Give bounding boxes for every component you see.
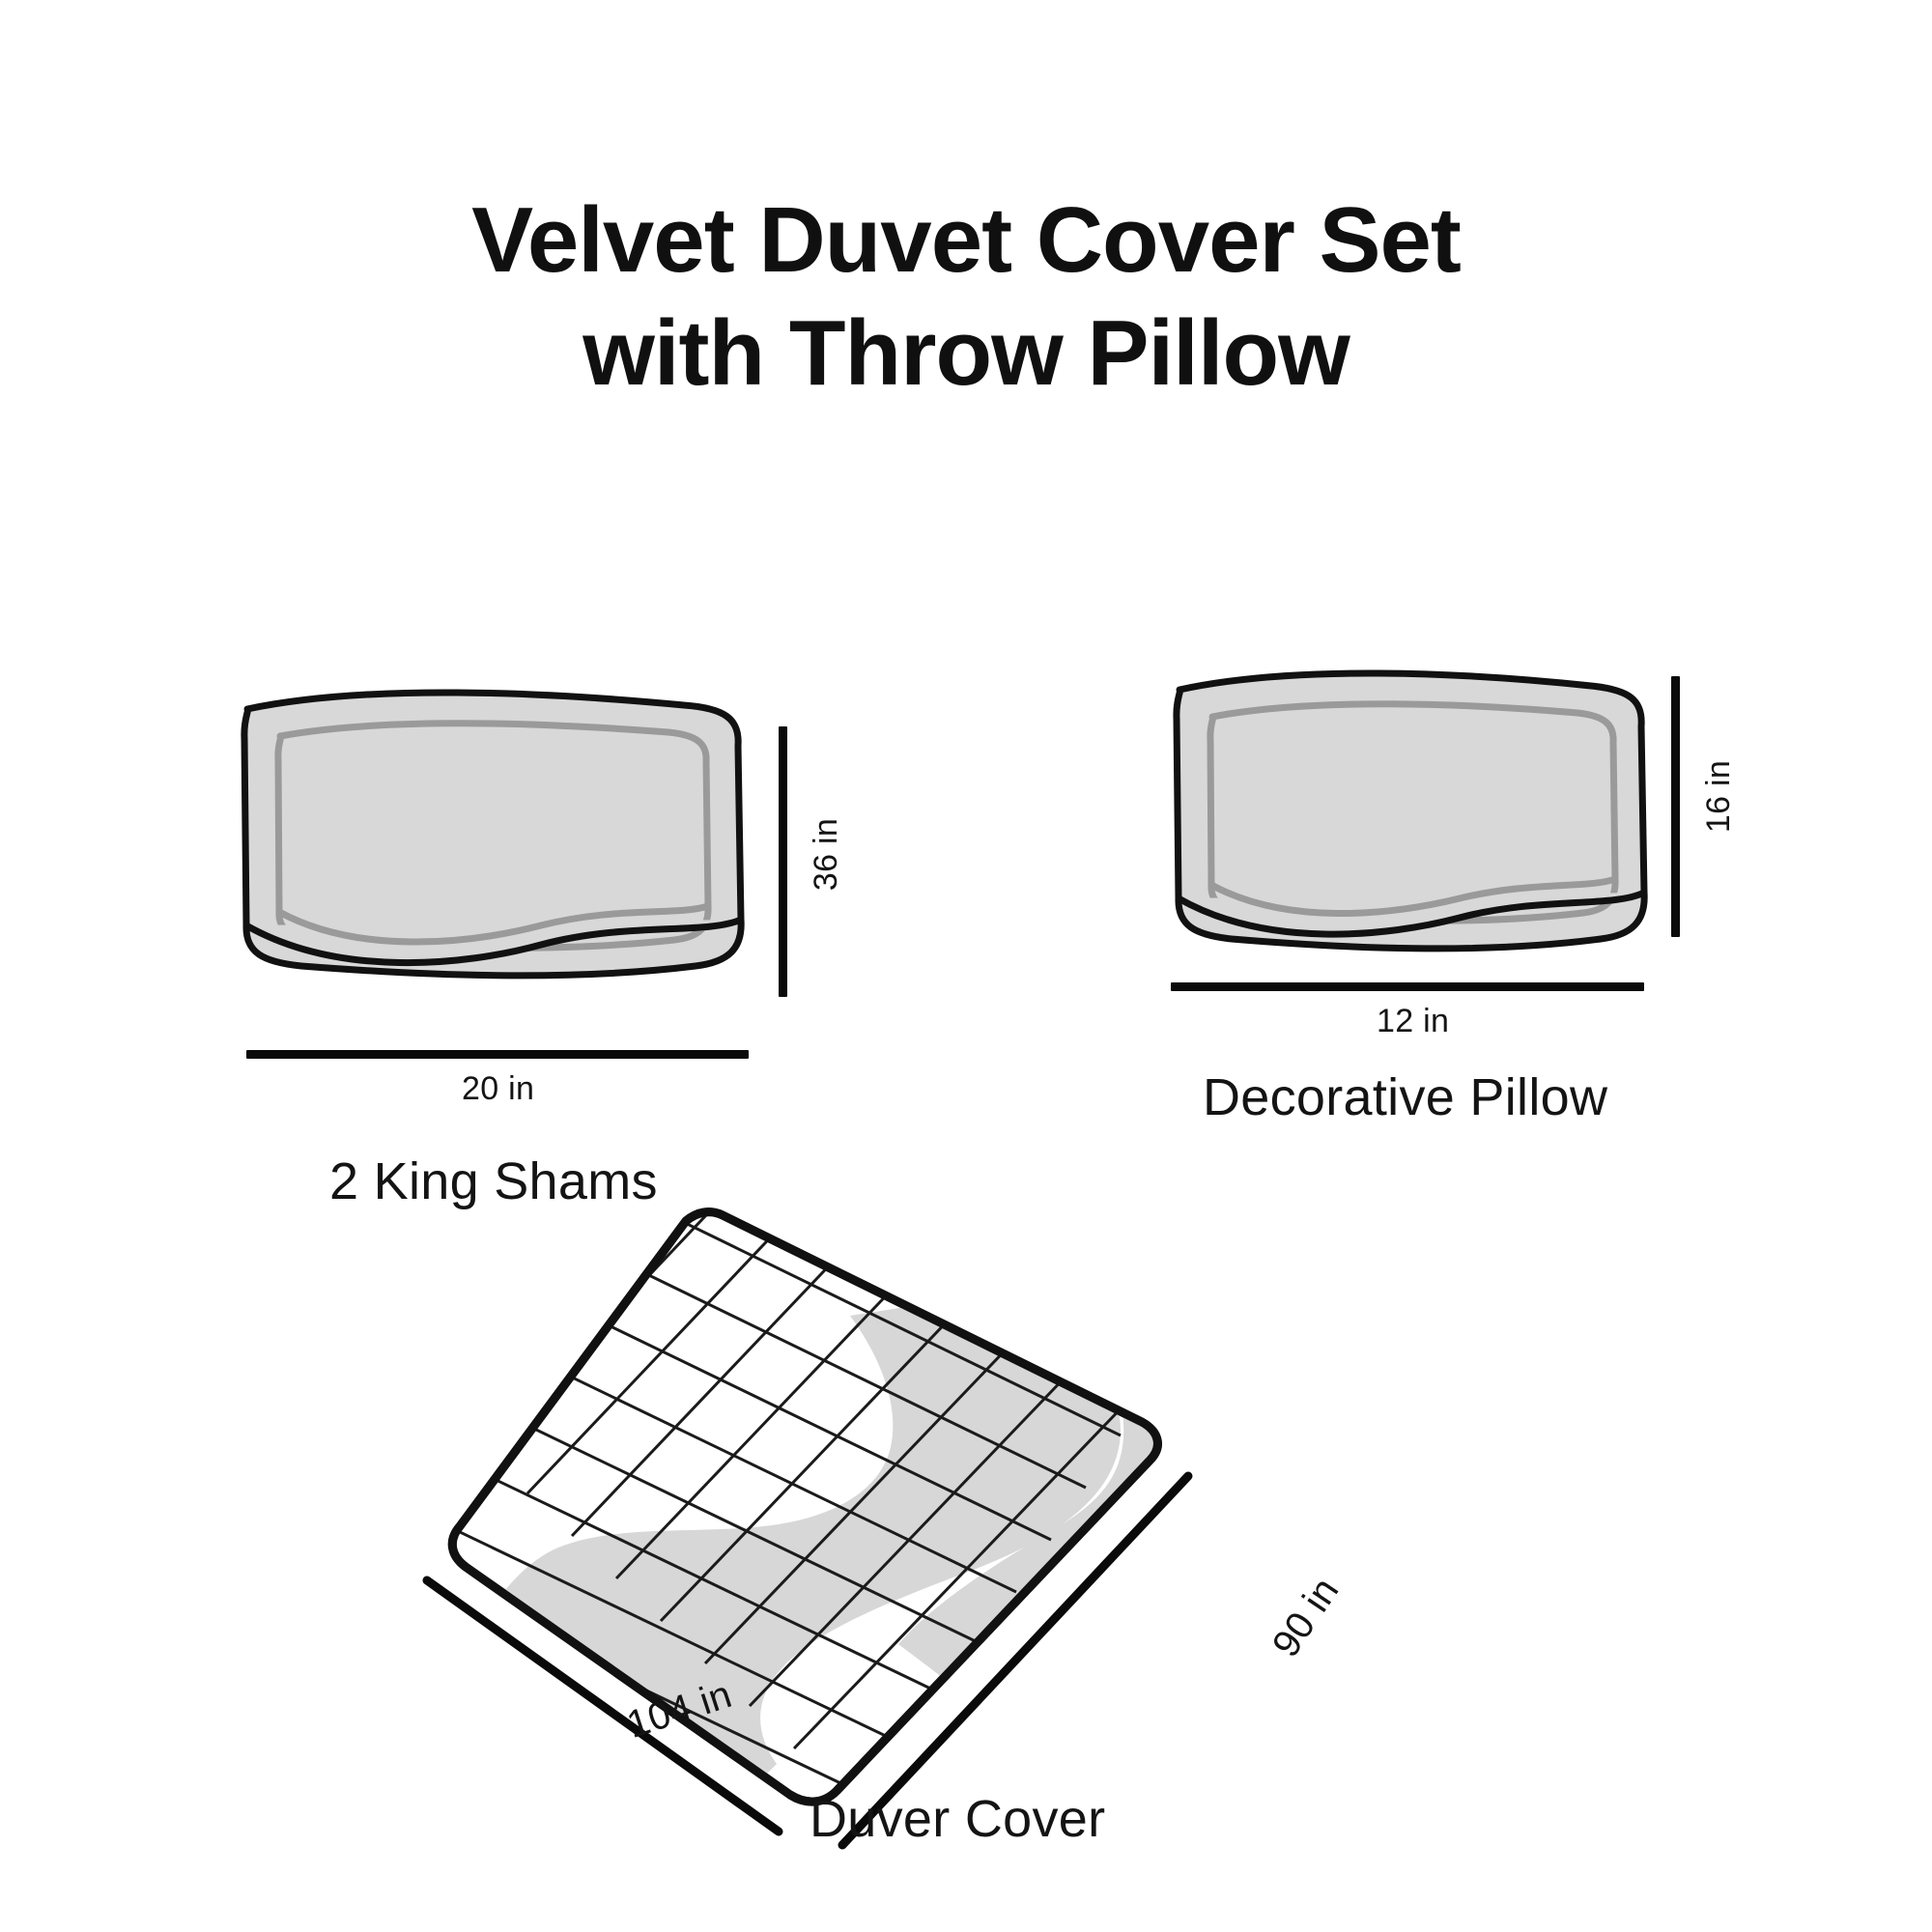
king-sham-width-label: 20 in (462, 1070, 534, 1108)
decorative-pillow-icon (1154, 657, 1657, 976)
duvet-cover-icon (444, 1207, 1468, 1864)
king-sham-caption: 2 King Shams (329, 1151, 658, 1211)
page-title: Velvet Duvet Cover Set with Throw Pillow (0, 184, 1932, 410)
pillow-sham-icon (222, 676, 763, 1005)
duvet-cover-caption: Duver Cover (810, 1789, 1105, 1849)
decorative-pillow-caption: Decorative Pillow (1203, 1067, 1607, 1127)
king-sham-height-rule (779, 726, 787, 997)
title-line-2: with Throw Pillow (0, 297, 1932, 410)
decorative-pillow-width-label: 12 in (1377, 1003, 1449, 1040)
king-sham-width-rule (246, 1050, 749, 1059)
decorative-pillow-height-label: 16 in (1700, 760, 1738, 833)
decorative-pillow-height-rule (1671, 676, 1680, 937)
decorative-pillow-width-rule (1171, 982, 1644, 991)
product-dimension-diagram: Velvet Duvet Cover Set with Throw Pillow… (0, 0, 1932, 1932)
title-line-1: Velvet Duvet Cover Set (0, 184, 1932, 297)
king-sham-height-label: 36 in (808, 818, 845, 891)
